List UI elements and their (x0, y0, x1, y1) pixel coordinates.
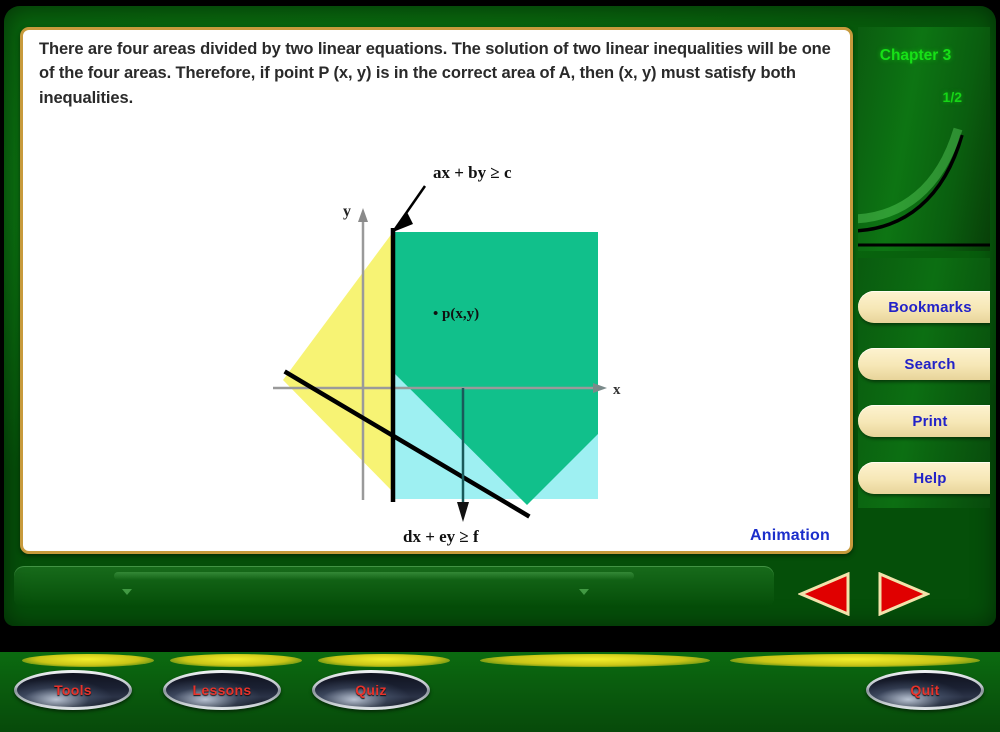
region-yellow-triangle (283, 232, 393, 492)
search-button[interactable]: Search (858, 348, 990, 380)
help-button-label: Help (913, 470, 946, 487)
chapter-title: Chapter 3 (858, 47, 973, 65)
animation-label: Animation (750, 527, 830, 545)
top-annotation-arrowhead (393, 212, 413, 232)
bookmarks-button[interactable]: Bookmarks (858, 291, 990, 323)
quiz-button[interactable]: Quiz (312, 670, 430, 710)
page-indicator: 1/2 (858, 89, 978, 105)
bottom-annotation-text: dx + ey ≥ f (403, 527, 479, 546)
quit-button-face: Quit (869, 673, 981, 707)
lessons-button[interactable]: Lessons (163, 670, 281, 710)
quiz-button-label: Quiz (355, 682, 387, 698)
quiz-button-face: Quiz (315, 673, 427, 707)
tools-button-face: Tools (17, 673, 129, 707)
tools-button[interactable]: Tools (14, 670, 132, 710)
panel-decor-triangle-left (122, 589, 132, 595)
toolbar-glow-2 (170, 654, 302, 667)
application-frame: There are four areas divided by two line… (0, 0, 1000, 732)
quit-button-label: Quit (910, 682, 939, 698)
lessons-button-face: Lessons (166, 673, 278, 707)
x-axis-label: x (613, 382, 621, 398)
top-annotation-text: ax + by ≥ c (433, 163, 512, 182)
tools-button-label: Tools (54, 682, 92, 698)
lesson-body-text: There are four areas divided by two line… (39, 37, 844, 110)
sidebar-chapter-panel: Chapter 3 1/2 (858, 27, 990, 251)
x-axis-arrowhead (593, 383, 607, 393)
help-button[interactable]: Help (858, 462, 990, 494)
panel-decor-triangle-right (579, 589, 589, 595)
previous-page-arrow-icon[interactable] (798, 572, 852, 616)
search-button-label: Search (904, 356, 955, 373)
sidebar-button-panel: Bookmarks Search Print Help (858, 258, 990, 508)
lesson-slide: There are four areas divided by two line… (20, 27, 853, 554)
bookmarks-button-label: Bookmarks (888, 299, 972, 316)
lessons-button-label: Lessons (193, 682, 252, 698)
next-page-arrow-icon[interactable] (876, 572, 930, 616)
bottom-annotation-arrowhead (457, 502, 469, 522)
toolbar-glow-4 (480, 654, 710, 667)
y-axis-label: y (343, 203, 351, 220)
quit-button[interactable]: Quit (866, 670, 984, 710)
print-button-label: Print (912, 413, 947, 430)
y-axis-arrowhead (358, 208, 368, 222)
toolbar-glow-1 (22, 654, 154, 667)
decorative-curve (858, 127, 990, 251)
point-label: • p(x,y) (433, 306, 479, 322)
toolbar-glow-3 (318, 654, 450, 667)
toolbar-glow-5 (730, 654, 980, 667)
bottom-toolbar (0, 652, 1000, 732)
inequality-diagram: y x ax + by ≥ c dx + ey ≥ f • p(x,y) (255, 140, 635, 550)
print-button[interactable]: Print (858, 405, 990, 437)
panel-highlight-gloss (114, 572, 634, 580)
